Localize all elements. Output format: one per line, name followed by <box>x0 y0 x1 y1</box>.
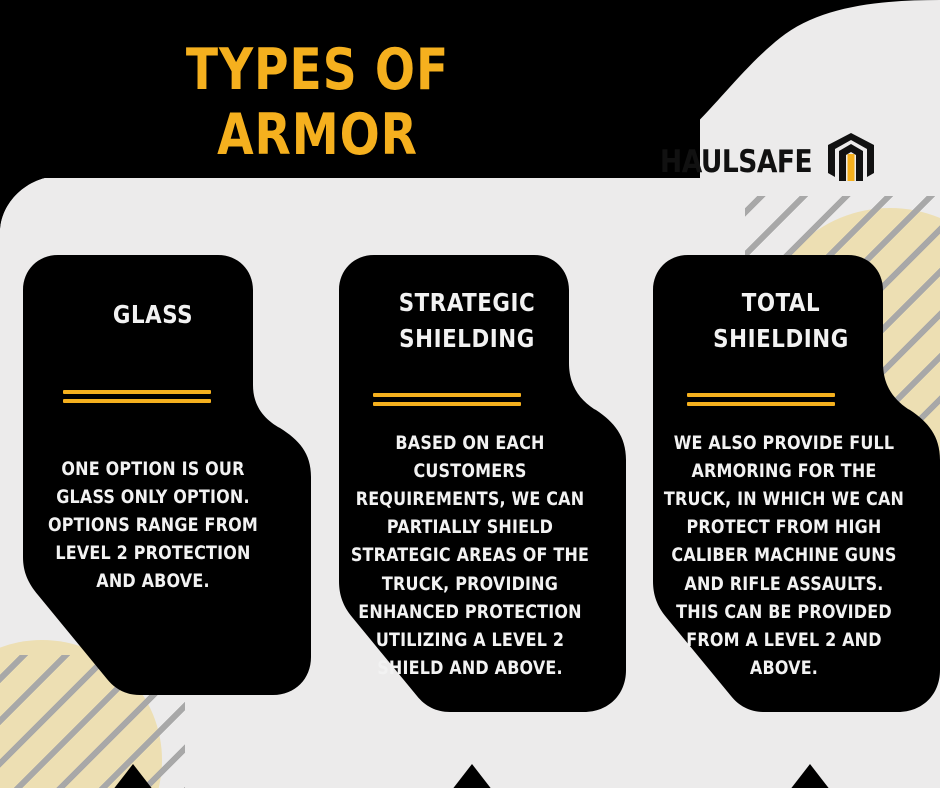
card-strategic-shielding[interactable]: STRATEGIC SHIELDING BASED ON EACH CUSTOM… <box>338 255 628 715</box>
divider-bar-bottom <box>373 402 521 406</box>
divider-bar-top <box>63 390 211 394</box>
card-title: STRATEGIC SHIELDING <box>348 285 586 356</box>
card-title: GLASS <box>30 297 275 333</box>
double-rule-divider <box>63 390 211 403</box>
card-title: TOTAL SHIELDING <box>662 285 900 356</box>
card-body: WE ALSO PROVIDE FULL ARMORING FOR THE TR… <box>663 430 905 683</box>
infographic-canvas: TYPES OF ARMOR HAULSAFE GLASS ONE OPTION… <box>0 0 940 788</box>
card-total-shielding[interactable]: TOTAL SHIELDING WE ALSO PROVIDE FULL ARM… <box>652 255 940 715</box>
divider-bar-top <box>373 393 521 397</box>
triangle-accent-2 <box>441 764 503 788</box>
divider-bar-bottom <box>687 402 835 406</box>
card-body: BASED ON EACH CUSTOMERS REQUIREMENTS, WE… <box>349 430 591 683</box>
double-rule-divider <box>373 393 521 406</box>
card-glass[interactable]: GLASS ONE OPTION IS OUR GLASS ONLY OPTIO… <box>22 255 322 710</box>
brand-wordmark: HAULSAFE <box>660 144 812 180</box>
triangle-accent-1 <box>102 764 164 788</box>
divider-bar-bottom <box>63 399 211 403</box>
triangle-accent-3 <box>779 764 841 788</box>
brand-logo: HAULSAFE <box>660 132 876 191</box>
divider-bar-top <box>687 393 835 397</box>
double-rule-divider <box>687 393 835 406</box>
page-title: TYPES OF ARMOR <box>53 38 582 168</box>
shield-hexagon-icon <box>826 132 876 191</box>
card-body: ONE OPTION IS OUR GLASS ONLY OPTION. OPT… <box>35 456 271 597</box>
